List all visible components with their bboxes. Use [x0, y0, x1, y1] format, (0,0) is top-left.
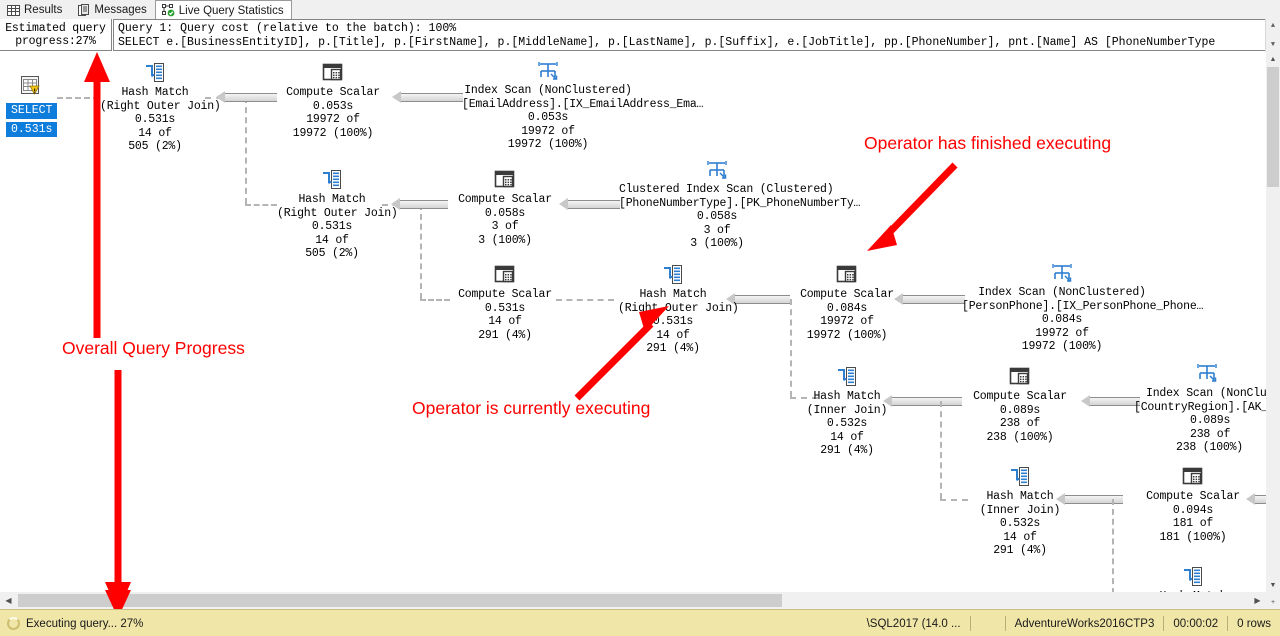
plan-node-clustered-index-scan-phonenumbertype-duration: 0.058s [619, 210, 815, 224]
plan-node-hash-match-4[interactable]: Hash Match (Inner Join) 0.532s 14 of 291… [795, 364, 899, 458]
connector-computescalar3-hashmatch3 [556, 299, 614, 301]
plan-node-hash-match-3-line1: Hash Match [618, 288, 728, 302]
plan-node-compute-scalar-6-total: 181 (100%) [1141, 531, 1245, 545]
plan-node-hash-match-4-line2: (Inner Join) [795, 404, 899, 418]
plan-node-hash-match-4-rows: 14 of [795, 431, 899, 445]
plan-node-hash-match-2-line1: Hash Match [277, 193, 387, 207]
scroll-left-button[interactable]: ◀ [0, 592, 17, 609]
plan-node-index-scan-countryregion-rows: 238 of [1134, 428, 1266, 442]
scroll-up-button[interactable]: ▲ [1266, 19, 1280, 32]
hash-match-icon [319, 167, 345, 193]
plan-vertical-scrollbar[interactable]: ▲ ▼ + [1266, 52, 1280, 609]
estimated-query-progress: Estimated query progress:27% [0, 19, 112, 51]
status-right-group: \SQL2017 (14.0 ... AdventureWorks2016CTP… [858, 610, 1280, 636]
plan-node-compute-scalar-5-line1: Compute Scalar [968, 390, 1072, 404]
results-tabstrip: Results Messages Live Query Stat [0, 0, 1280, 20]
arrow-cisphonetype-computescalar2 [568, 200, 620, 209]
annotation-arrow-executing [565, 302, 685, 402]
status-bar: Executing query... 27% \SQL2017 (14.0 ..… [0, 609, 1280, 636]
plan-node-compute-scalar-6-rows: 181 of [1141, 517, 1245, 531]
plan-node-compute-scalar-3-total: 291 (4%) [453, 329, 557, 343]
compute-scalar-icon [1007, 364, 1033, 390]
vscroll-thumb[interactable] [1267, 67, 1279, 187]
plan-node-index-scan-emailaddress-total: 19972 (100%) [462, 138, 634, 152]
connector-hashmatch1-down [245, 97, 247, 204]
plan-node-index-scan-personphone-line1: Index Scan (NonClustered) [962, 286, 1162, 300]
plan-horizontal-scrollbar[interactable]: ◀ ▶ [0, 592, 1266, 609]
select-result-icon [18, 74, 44, 100]
compute-scalar-icon [492, 167, 518, 193]
plan-node-hash-match-2-line2: (Right Outer Join) [277, 207, 387, 221]
plan-node-hash-match-6[interactable]: Hash Match [1141, 564, 1245, 592]
plan-node-select-duration: 0.531s [6, 122, 57, 138]
arrow-computescalar5-hashmatch4 [892, 397, 962, 406]
plan-node-index-scan-emailaddress-duration: 0.053s [462, 111, 634, 125]
connector-hashmatch2-down-h [420, 299, 450, 301]
plan-node-compute-scalar-5-rows: 238 of [968, 417, 1072, 431]
tab-results-label: Results [24, 4, 62, 16]
plan-scroll-down-button[interactable]: ▼ [1266, 578, 1280, 592]
plan-node-hash-match-5-rows: 14 of [968, 531, 1072, 545]
plan-node-hash-match-1[interactable]: Hash Match (Right Outer Join) 0.531s 14 … [100, 60, 210, 154]
tab-live-query-statistics[interactable]: Live Query Statistics [155, 0, 292, 20]
plan-scroll-up-button[interactable]: ▲ [1266, 52, 1280, 66]
plan-node-index-scan-emailaddress-line1: Index Scan (NonClustered) [462, 84, 634, 98]
plan-node-index-scan-personphone[interactable]: Index Scan (NonClustered) [PersonPhone].… [962, 260, 1162, 354]
compute-scalar-icon [492, 262, 518, 288]
connector-hashmatch1-down-h [245, 204, 277, 206]
plan-node-hash-match-5[interactable]: Hash Match (Inner Join) 0.532s 14 of 291… [968, 464, 1072, 558]
plan-node-compute-scalar-6[interactable]: Compute Scalar 0.094s 181 of 181 (100%) [1141, 464, 1245, 544]
plan-node-compute-scalar-4[interactable]: Compute Scalar 0.084s 19972 of 19972 (10… [795, 262, 899, 342]
plan-node-compute-scalar-4-total: 19972 (100%) [795, 329, 899, 343]
plan-node-clustered-index-scan-phonenumbertype-total: 3 (100%) [619, 237, 815, 251]
connector-hashmatch4-down [940, 401, 942, 499]
compute-scalar-icon [1180, 464, 1206, 490]
annotation-arrow-finished [855, 157, 965, 257]
plan-node-hash-match-4-line1: Hash Match [795, 390, 899, 404]
index-scan-icon [1194, 360, 1220, 386]
plan-node-index-scan-personphone-rows: 19972 of [962, 327, 1162, 341]
plan-node-index-scan-personphone-line2: [PersonPhone].[IX_PersonPhone_Phone… [962, 300, 1162, 314]
plan-node-hash-match-2[interactable]: Hash Match (Right Outer Join) 0.531s 14 … [277, 167, 387, 261]
plan-node-compute-scalar-3-rows: 14 of [453, 315, 557, 329]
plan-node-compute-scalar-2-line1: Compute Scalar [453, 193, 557, 207]
connector-hashmatch5-down [1112, 499, 1114, 592]
query-header: Estimated query progress:27% Query 1: Qu… [0, 19, 1280, 52]
plan-scroll-zoom-button[interactable]: + [1266, 595, 1280, 609]
plan-node-compute-scalar-6-line1: Compute Scalar [1141, 490, 1245, 504]
plan-node-compute-scalar-6-duration: 0.094s [1141, 504, 1245, 518]
plan-node-compute-scalar-5[interactable]: Compute Scalar 0.089s 238 of 238 (100%) [968, 364, 1072, 444]
tab-live-query-statistics-label: Live Query Statistics [179, 5, 284, 17]
status-server: \SQL2017 (14.0 ... [858, 616, 970, 631]
plan-node-compute-scalar-1-total: 19972 (100%) [281, 127, 385, 141]
status-spacer [970, 616, 1005, 631]
index-scan-icon [535, 58, 561, 84]
plan-node-compute-scalar-5-duration: 0.089s [968, 404, 1072, 418]
plan-node-hash-match-4-duration: 0.532s [795, 417, 899, 431]
plan-node-compute-scalar-2-duration: 0.058s [453, 207, 557, 221]
query-sql-line: SELECT e.[BusinessEntityID], p.[Title], … [118, 36, 1266, 50]
arrow-hashmatch3-in [735, 295, 790, 304]
annotation-overall-query-progress: Overall Query Progress [62, 338, 245, 359]
plan-node-compute-scalar-4-duration: 0.084s [795, 302, 899, 316]
query-text-vscrollbar[interactable]: ▲ ▼ [1265, 19, 1280, 52]
tab-messages[interactable]: Messages [70, 0, 154, 19]
plan-node-hash-match-5-line2: (Inner Join) [968, 504, 1072, 518]
status-elapsed-time: 00:00:02 [1163, 616, 1227, 631]
connector-hashmatch2-down [420, 204, 422, 299]
connector-hashmatch4-down-h [940, 499, 968, 501]
plan-node-hash-match-1-line1: Hash Match [100, 86, 210, 100]
plan-node-hash-match-1-total: 505 (2%) [100, 140, 210, 154]
hash-match-icon [142, 60, 168, 86]
plan-node-compute-scalar-1[interactable]: Compute Scalar 0.053s 19972 of 19972 (10… [281, 60, 385, 140]
plan-node-compute-scalar-4-rows: 19972 of [795, 315, 899, 329]
plan-node-compute-scalar-5-total: 238 (100%) [968, 431, 1072, 445]
plan-node-compute-scalar-3-line1: Compute Scalar [453, 288, 557, 302]
plan-node-compute-scalar-2-total: 3 (100%) [453, 234, 557, 248]
hash-match-icon [1007, 464, 1033, 490]
hash-match-icon [834, 364, 860, 390]
plan-node-compute-scalar-2-rows: 3 of [453, 220, 557, 234]
plan-node-clustered-index-scan-phonenumbertype-rows: 3 of [619, 224, 815, 238]
arrow-computescalar6-hashmatch5 [1065, 495, 1123, 504]
grid-icon [7, 4, 20, 17]
compute-scalar-icon [320, 60, 346, 86]
arrow-computescalar2-hashmatch2 [400, 200, 448, 209]
index-scan-icon [704, 157, 730, 183]
plan-node-index-scan-countryregion-line2: [CountryRegion].[AK_Cou [1134, 401, 1266, 415]
plan-node-index-scan-countryregion-total: 238 (100%) [1134, 441, 1266, 455]
arrow-hashmatch6-computescalar6 [1255, 495, 1266, 504]
plan-node-hash-match-1-line2: (Right Outer Join) [100, 100, 210, 114]
status-row-count: 0 rows [1227, 616, 1280, 631]
plan-node-index-scan-emailaddress-line2: [EmailAddress].[IX_EmailAddress_Ema… [462, 98, 634, 112]
plan-node-compute-scalar-4-line1: Compute Scalar [795, 288, 899, 302]
plan-node-hash-match-1-rows: 14 of [100, 127, 210, 141]
estimated-progress-value: progress:27% [15, 35, 95, 48]
index-scan-icon [1049, 260, 1075, 286]
plan-node-clustered-index-scan-phonenumbertype-line2: [PhoneNumberType].[PK_PhoneNumberTy… [619, 197, 815, 211]
plan-node-select[interactable]: SELECT 0.531s [6, 74, 56, 137]
plan-node-compute-scalar-3-duration: 0.531s [453, 302, 557, 316]
plan-node-clustered-index-scan-phonenumbertype[interactable]: Clustered Index Scan (Clustered) [PhoneN… [619, 157, 815, 251]
plan-node-hash-match-2-duration: 0.531s [277, 220, 387, 234]
status-database: AdventureWorks2016CTP3 [1005, 616, 1164, 631]
tab-messages-label: Messages [94, 4, 146, 16]
plan-node-index-scan-countryregion-duration: 0.089s [1134, 414, 1266, 428]
plan-node-compute-scalar-1-rows: 19972 of [281, 113, 385, 127]
annotation-arrow-query-progress-down [103, 370, 133, 592]
plan-node-compute-scalar-3[interactable]: Compute Scalar 0.531s 14 of 291 (4%) [453, 262, 557, 342]
plan-node-index-scan-personphone-total: 19972 (100%) [962, 340, 1162, 354]
plan-node-index-scan-emailaddress-rows: 19972 of [462, 125, 634, 139]
plan-node-hash-match-2-total: 505 (2%) [277, 247, 387, 261]
status-executing-group: Executing query... 27% [0, 617, 143, 630]
query-text-panel: Query 1: Query cost (relative to the bat… [113, 19, 1266, 51]
spinner-icon [7, 617, 20, 630]
plan-node-index-scan-emailaddress[interactable]: Index Scan (NonClustered) [EmailAddress]… [462, 58, 634, 152]
scroll-down-button[interactable]: ▼ [1266, 38, 1280, 51]
plan-node-hash-match-5-duration: 0.532s [968, 517, 1072, 531]
annotation-arrow-query-progress-up [82, 52, 112, 338]
plan-node-hash-match-1-duration: 0.531s [100, 113, 210, 127]
hash-match-icon [1180, 564, 1206, 590]
arrow-indexscan-country-computescalar5 [1090, 397, 1140, 406]
compute-scalar-icon [834, 262, 860, 288]
arrow-indexscan-email-computescalar1 [401, 93, 463, 102]
arrow-indexscan-personphone-computescalar4 [903, 295, 965, 304]
plan-node-hash-match-5-total: 291 (4%) [968, 544, 1072, 558]
scroll-right-button[interactable]: ▶ [1249, 592, 1266, 609]
plan-node-index-scan-countryregion[interactable]: Index Scan (NonClu [CountryRegion].[AK_C… [1134, 360, 1266, 455]
message-icon [77, 4, 90, 17]
plan-node-index-scan-personphone-duration: 0.084s [962, 313, 1162, 327]
query-plan-canvas[interactable]: SELECT 0.531s Hash Match (Right Outer Jo… [0, 52, 1266, 592]
plan-node-select-label: SELECT [6, 103, 57, 119]
tab-results[interactable]: Results [0, 0, 70, 19]
plan-node-hash-match-2-rows: 14 of [277, 234, 387, 248]
arrow-computescalar1-hashmatch1 [225, 93, 277, 102]
estimated-progress-label: Estimated query [5, 22, 106, 35]
query-cost-line: Query 1: Query cost (relative to the bat… [118, 22, 1266, 36]
plan-node-compute-scalar-1-line1: Compute Scalar [281, 86, 385, 100]
plan-node-hash-match-5-line1: Hash Match [968, 490, 1072, 504]
plan-node-index-scan-countryregion-line1: Index Scan (NonClu [1134, 387, 1266, 401]
status-executing-text: Executing query... 27% [26, 618, 143, 630]
plan-node-compute-scalar-1-duration: 0.053s [281, 100, 385, 114]
annotation-operator-finished: Operator has finished executing [864, 133, 1111, 154]
hash-match-icon [660, 262, 686, 288]
plan-node-clustered-index-scan-phonenumbertype-line1: Clustered Index Scan (Clustered) [619, 183, 815, 197]
plan-node-hash-match-4-total: 291 (4%) [795, 444, 899, 458]
plan-node-compute-scalar-2[interactable]: Compute Scalar 0.058s 3 of 3 (100%) [453, 167, 557, 247]
connector-hashmatch3-down [790, 299, 792, 397]
live-stats-icon [162, 4, 175, 17]
